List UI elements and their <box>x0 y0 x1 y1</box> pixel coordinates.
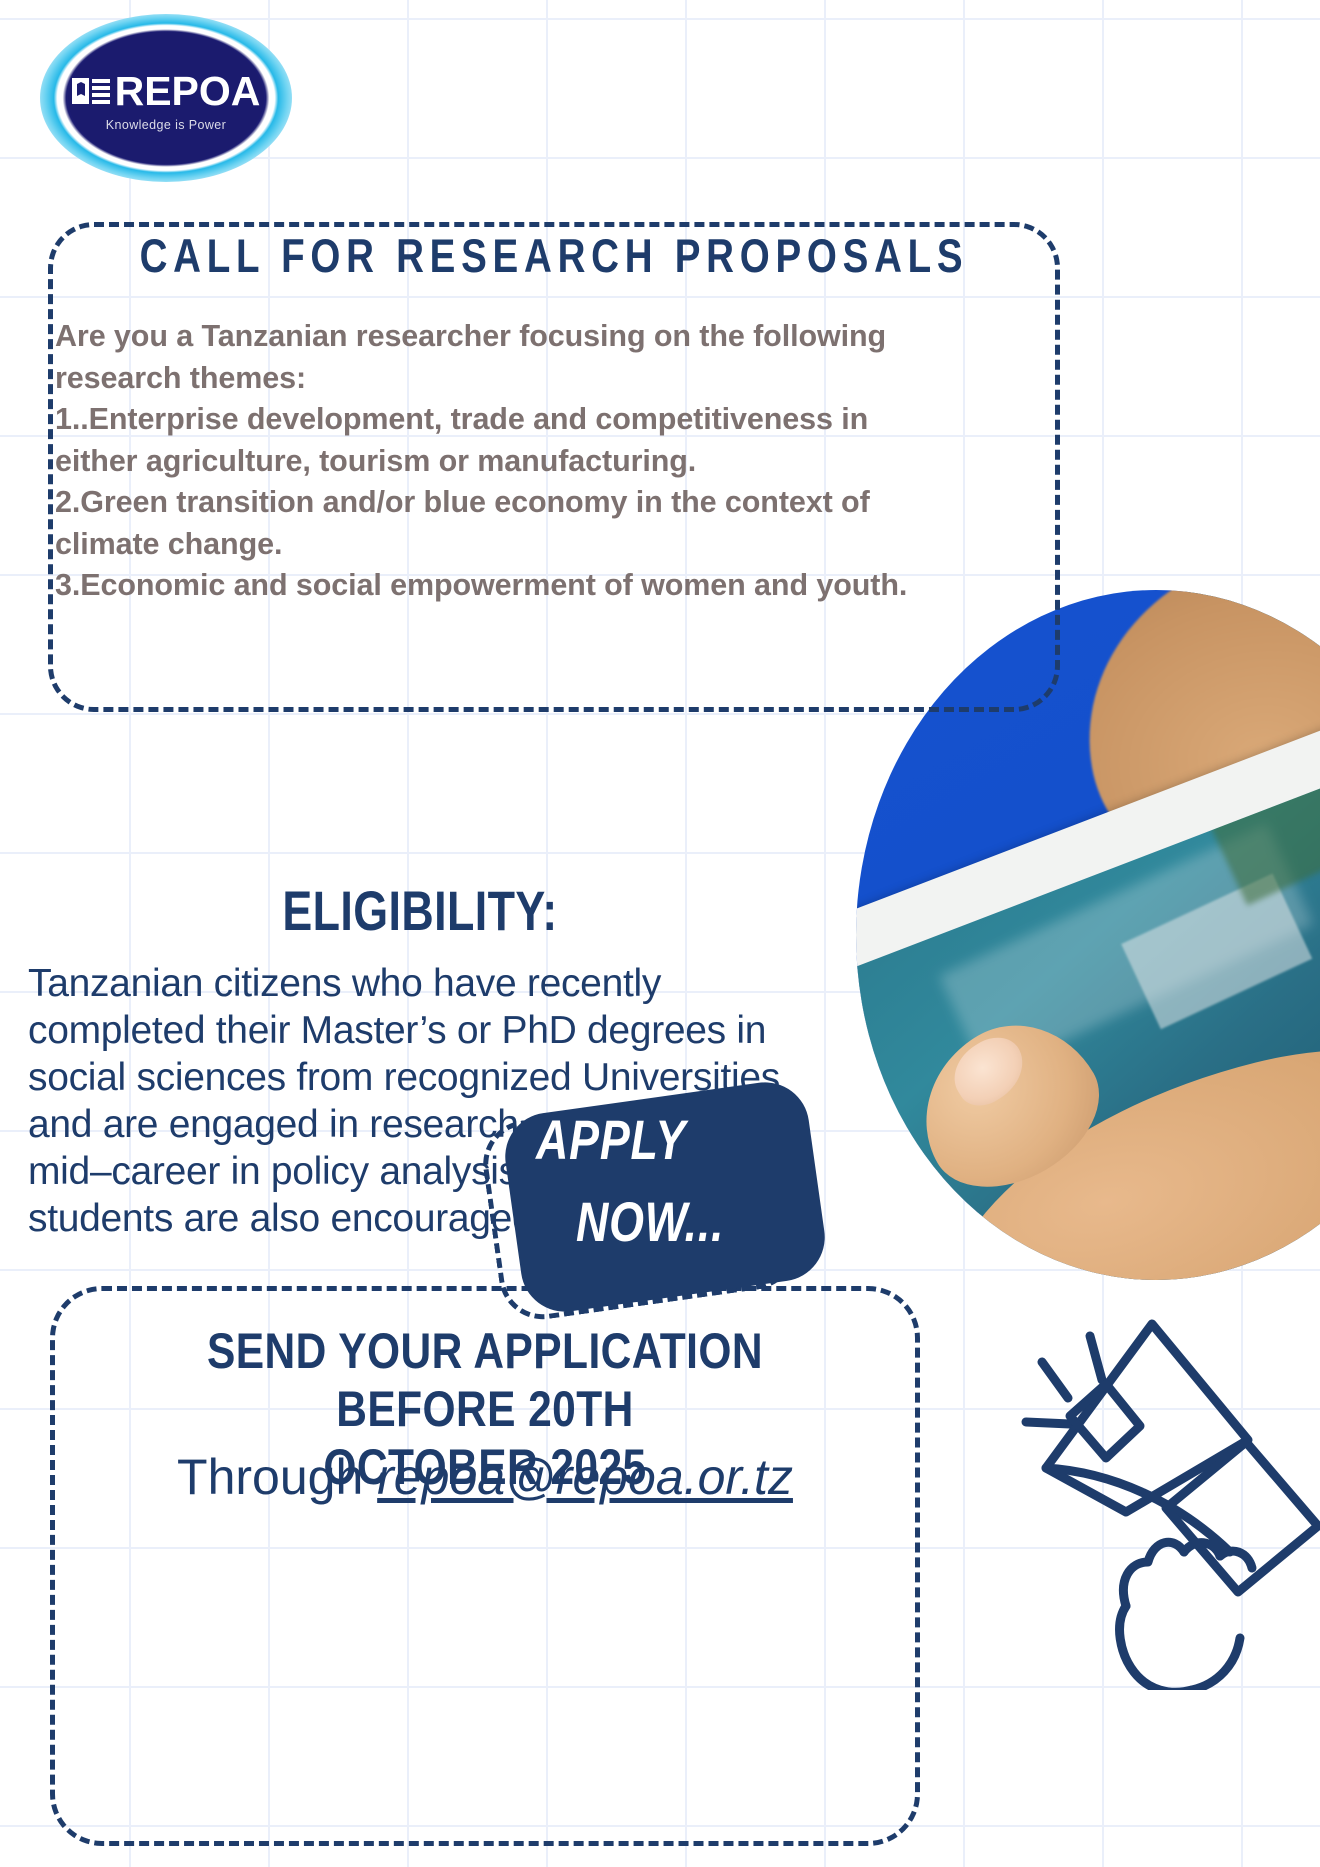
apply-badge-line-1: APPLY <box>536 1107 686 1172</box>
apply-now-badge[interactable]: APPLY NOW... <box>480 1085 840 1335</box>
eligibility-heading: ELIGIBILITY: <box>84 878 756 943</box>
themes-intro-line-1: Are you a Tanzanian researcher focusing … <box>55 316 1035 358</box>
theme-item: climate change. <box>55 524 1035 566</box>
application-channel: Through repoa@repoa.or.tz <box>60 1448 910 1506</box>
contact-email-link[interactable]: repoa@repoa.or.tz <box>377 1449 793 1505</box>
eligibility-line: completed their Master’s or PhD degrees … <box>28 1007 828 1054</box>
theme-item: 3.Economic and social empowerment of wom… <box>55 565 1035 607</box>
themes-intro-line-2: research themes: <box>55 358 1035 400</box>
through-label: Through <box>177 1449 377 1505</box>
deadline-heading-line-1: SEND YOUR APPLICATION BEFORE 20TH <box>124 1322 847 1438</box>
theme-item: 1..Enterprise development, trade and com… <box>55 399 1035 441</box>
apply-badge-line-2: NOW... <box>576 1189 724 1254</box>
theme-item: either agriculture, tourism or manufactu… <box>55 441 1035 483</box>
eligibility-line: Tanzanian citizens who have recently <box>28 960 828 1007</box>
photo-map-plot <box>1121 874 1312 1029</box>
repoa-book-mark-icon <box>72 76 110 107</box>
logo-tagline: Knowledge is Power <box>106 118 226 132</box>
logo-wordmark: REPOA <box>72 71 261 112</box>
logo-inner-ellipse: REPOA Knowledge is Power <box>68 32 264 164</box>
megaphone-announcement-icon <box>930 1240 1320 1690</box>
repoa-logo: REPOA Knowledge is Power <box>40 14 292 182</box>
page-title: CALL FOR RESEARCH PROPOSALS <box>139 228 969 283</box>
theme-item: 2.Green transition and/or blue economy i… <box>55 482 1035 524</box>
themes-card-body: Are you a Tanzanian researcher focusing … <box>55 316 1035 607</box>
logo-name: REPOA <box>115 71 261 112</box>
